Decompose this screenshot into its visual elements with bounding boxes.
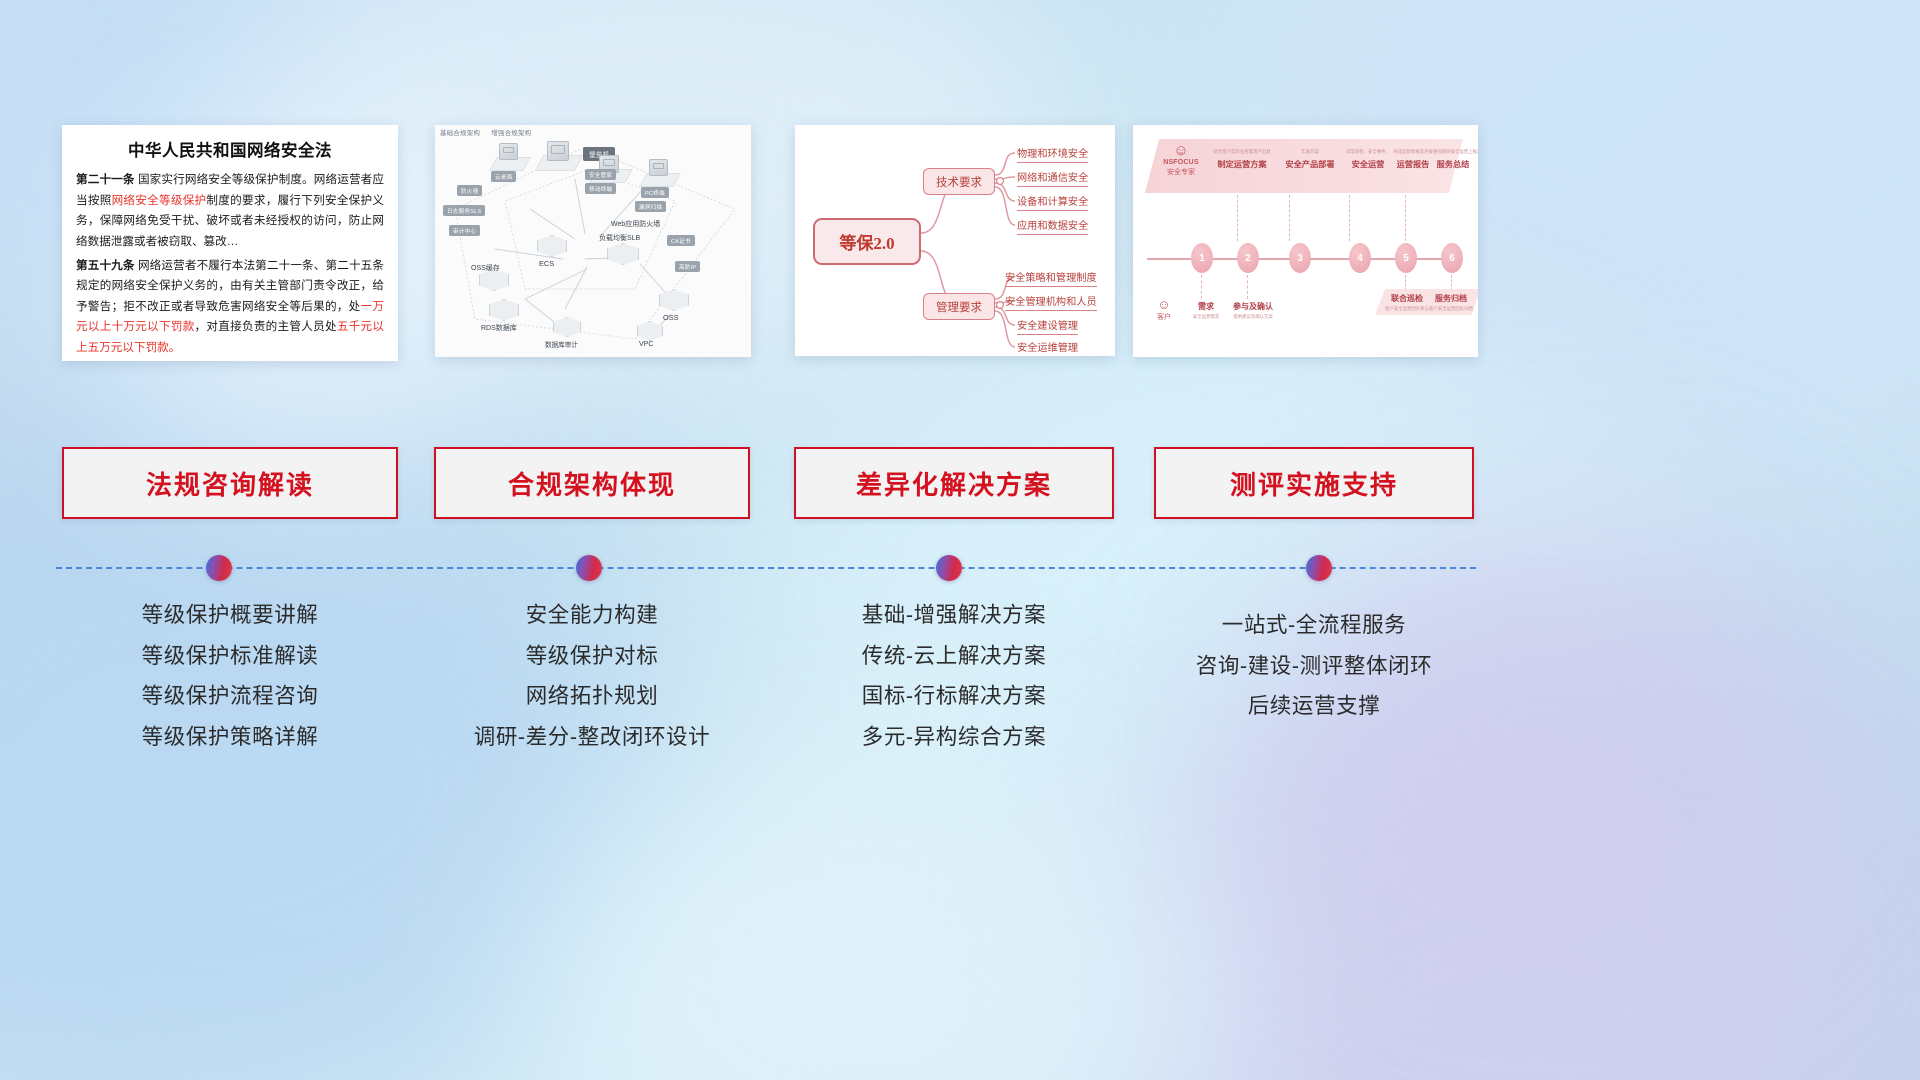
list-item: 国标-行标解决方案 (794, 686, 1114, 708)
law-article-label: 第五十九条 (76, 259, 135, 272)
node-label: RDS数据库 (481, 323, 517, 333)
list-item: 等级保护策略详解 (62, 727, 398, 749)
timeline-dot-1 (206, 555, 232, 581)
section-title-row: 法规咨询解读 合规架构体现 差异化解决方案 测评实施支持 (0, 447, 1920, 519)
node-tag: 云桌面 (491, 171, 516, 182)
section-title-box-3[interactable]: 差异化解决方案 (794, 447, 1114, 519)
law-article-label: 第二十一条 (76, 173, 135, 186)
node-label: VPC (639, 341, 653, 348)
nsfocus-step-number: 6 (1441, 243, 1463, 273)
node-tag: 安全管家 (585, 169, 616, 180)
list-item: 等级保护标准解读 (62, 646, 398, 668)
nsfocus-step: 重保期间安全运营上报及沟通机制 服务总结 (1433, 149, 1473, 170)
nsfocus-lower-title: 需求 (1183, 301, 1229, 312)
nsfocus-connector (1289, 195, 1290, 241)
nsfocus-step-sub: 形成运营周报及月报 (1391, 149, 1435, 155)
node-tag: 漏洞扫描 (635, 201, 666, 212)
nsfocus-connector (1247, 275, 1248, 299)
cloud-architecture-card: 基础合规架构 增强合规架构 (435, 125, 751, 357)
node-label: OSS (663, 313, 679, 322)
mindmap-leaf: 设备和计算安全 (1017, 193, 1088, 211)
list-item: 等级保护概要讲解 (62, 605, 398, 627)
nsfocus-lower-title: 服务归档 (1425, 293, 1477, 304)
node-label: ECS (539, 259, 554, 268)
mindmap: 等保2.0 技术要求 管理要求 物理和环境安全 网络和通信安全 设备和计算安全 … (795, 125, 1115, 356)
section-title-label: 法规咨询解读 (146, 465, 314, 502)
image-card-row: 中华人民共和国网络安全法 第二十一条 国家实行网络安全等级保护制度。网络运营者应… (0, 125, 1920, 361)
nsfocus-step-title: 运营报告 (1391, 158, 1435, 170)
list-item: 后续运营支撑 (1154, 696, 1474, 718)
nsfocus-connector (1405, 195, 1406, 241)
node-tag: PC终端 (641, 187, 669, 198)
section-title-label: 合规架构体现 (508, 465, 676, 502)
nsfocus-lower-sub: 提供建议及确认方案 (1225, 314, 1281, 320)
node-tag: 防火墙 (457, 185, 482, 196)
mindmap-leaf: 应用和数据安全 (1017, 217, 1088, 235)
nsfocus-diagram: ☺ NSFOCUS 安全专家 结合客户实际业务需求产出具 制定运营方案 实施方案… (1133, 125, 1478, 357)
person-icon: ☺ (1159, 143, 1203, 158)
mindmap-branch-management: 管理要求 (923, 293, 995, 320)
slide-stage: 中华人民共和国网络安全法 第二十一条 国家实行网络安全等级保护制度。网络运营者应… (0, 0, 1920, 1080)
law-body: 中华人民共和国网络安全法 第二十一条 国家实行网络安全等级保护制度。网络运营者应… (62, 125, 398, 361)
list-item: 多元-异构综合方案 (794, 727, 1114, 749)
list-item: 等级保护对标 (434, 646, 750, 668)
section-title-box-1[interactable]: 法规咨询解读 (62, 447, 398, 519)
mindmap-branch-technical: 技术要求 (923, 168, 995, 195)
timeline-dashed-line (56, 567, 1476, 569)
nsfocus-lower-sub: 安全运营需求 (1183, 314, 1229, 320)
section-title-label: 差异化解决方案 (856, 465, 1052, 502)
node-label: Web应用防火墙 (611, 219, 660, 229)
list-item: 咨询-建设-测评整体闭环 (1154, 656, 1474, 678)
list-item: 基础-增强解决方案 (794, 605, 1114, 627)
timeline-dot-3 (936, 555, 962, 581)
section-detail-column-1: 等级保护概要讲解 等级保护标准解读 等级保护流程咨询 等级保护策略详解 (62, 605, 398, 767)
nsfocus-step: 形成运营周报及月报 运营报告 (1391, 149, 1435, 170)
list-item: 等级保护流程咨询 (62, 686, 398, 708)
section-title-label: 测评实施支持 (1230, 465, 1398, 502)
nsfocus-lower-label: 服务归档 客户安全运营团队归档 (1425, 293, 1477, 312)
nsfocus-step: 结合客户实际业务需求产出具 制定运营方案 (1211, 149, 1273, 170)
node-box (547, 141, 569, 161)
timeline-dot-2 (576, 555, 602, 581)
law-title: 中华人民共和国网络安全法 (76, 137, 384, 161)
nsfocus-lower-sub: 客户安全运营团队归档 (1425, 306, 1477, 312)
mindmap-leaf: 安全建设管理 (1017, 317, 1078, 335)
section-detail-column-3: 基础-增强解决方案 传统-云上解决方案 国标-行标解决方案 多元-异构综合方案 (794, 605, 1114, 767)
nsfocus-step-sub: 实施方案 (1279, 149, 1341, 155)
section-title-box-4[interactable]: 测评实施支持 (1154, 447, 1474, 519)
node-tag: 移动终端 (585, 183, 616, 194)
dengbao-mindmap-card: 等保2.0 技术要求 管理要求 物理和环境安全 网络和通信安全 设备和计算安全 … (795, 125, 1115, 356)
node-label: 数据库审计 (545, 339, 578, 349)
section-detail-row: 等级保护概要讲解 等级保护标准解读 等级保护流程咨询 等级保护策略详解 安全能力… (0, 605, 1920, 795)
architecture-header-item: 增强合规架构 (491, 130, 531, 137)
nsfocus-connector (1405, 275, 1406, 291)
list-item: 传统-云上解决方案 (794, 646, 1114, 668)
nsfocus-step-sub: 重保期间安全运营上报及沟通机制 (1433, 149, 1473, 155)
node-tag: 日志服务SLS (443, 205, 485, 216)
timeline-dot-4 (1306, 555, 1332, 581)
nsfocus-step-number: 3 (1289, 243, 1311, 273)
cybersecurity-law-card: 中华人民共和国网络安全法 第二十一条 国家实行网络安全等级保护制度。网络运营者应… (62, 125, 398, 361)
mindmap-leaf: 安全运维管理 (1017, 339, 1078, 356)
list-item: 一站式-全流程服务 (1154, 615, 1474, 637)
node-label: 负载均衡SLB (599, 233, 640, 243)
nsfocus-client: ☺ 客户 (1157, 298, 1171, 322)
architecture-diagram: 基础合规架构 增强合规架构 (435, 125, 751, 357)
nsfocus-step: 日常巡检、安全事件、 安全运营 (1343, 149, 1393, 170)
mindmap-leaf: 物理和环境安全 (1017, 145, 1088, 163)
nsfocus-lower-title: 参与及确认 (1225, 301, 1281, 312)
node-box (649, 159, 668, 176)
section-detail-column-2: 安全能力构建 等级保护对标 网络拓扑规划 调研-差分-整改闭环设计 (434, 605, 750, 767)
nsfocus-step-title: 制定运营方案 (1211, 158, 1273, 170)
section-title-box-2[interactable]: 合规架构体现 (434, 447, 750, 519)
law-text: ，对直接负责的主管人员处 (195, 320, 337, 333)
nsfocus-step-number: 4 (1349, 243, 1371, 273)
nsfocus-lower-label: 需求 安全运营需求 (1183, 301, 1229, 320)
architecture-header: 基础合规架构 增强合规架构 (440, 128, 540, 137)
nsfocus-step-number: 1 (1191, 243, 1213, 273)
person-icon: ☺ (1157, 298, 1171, 311)
node-box (499, 143, 518, 160)
law-paragraph-59: 第五十九条 网络运营者不履行本法第二十一条、第二十五条规定的网络安全保护义务的，… (76, 256, 384, 359)
nsfocus-timeline-card: ☺ NSFOCUS 安全专家 结合客户实际业务需求产出具 制定运营方案 实施方案… (1133, 125, 1478, 357)
nsfocus-connector (1451, 275, 1452, 291)
nsfocus-lower-label: 参与及确认 提供建议及确认方案 (1225, 301, 1281, 320)
node-tag: 高防IP (675, 261, 700, 272)
nsfocus-step-title: 安全运营 (1343, 158, 1393, 170)
mindmap-leaf: 安全策略和管理制度 (1005, 269, 1097, 287)
nsfocus-step-number: 2 (1237, 243, 1259, 273)
nsfocus-step-sub: 结合客户实际业务需求产出具 (1211, 149, 1273, 155)
nsfocus-step-title: 安全产品部署 (1279, 158, 1341, 170)
architecture-header-item: 基础合规架构 (440, 130, 480, 137)
list-item: 安全能力构建 (434, 605, 750, 627)
node-tag: 审计中心 (449, 225, 480, 236)
mindmap-leaf: 网络和通信安全 (1017, 169, 1088, 187)
nsfocus-connector (1201, 275, 1202, 299)
nsfocus-step-number: 5 (1395, 243, 1417, 273)
nsfocus-logo-line2: 安全专家 (1159, 167, 1203, 177)
list-item: 调研-差分-整改闭环设计 (434, 727, 750, 749)
mindmap-core: 等保2.0 (813, 218, 921, 265)
node-label: OSS缓存 (471, 263, 500, 273)
mindmap-leaf: 安全管理机构和人员 (1005, 293, 1097, 311)
law-text-highlight: 网络安全等级保护 (112, 194, 207, 207)
nsfocus-step-sub: 日常巡检、安全事件、 (1343, 149, 1393, 155)
nsfocus-logo: ☺ NSFOCUS 安全专家 (1159, 143, 1203, 177)
law-paragraph-21: 第二十一条 国家实行网络安全等级保护制度。网络运营者应当按照网络安全等级保护制度… (76, 170, 384, 253)
nsfocus-step-title: 服务总结 (1433, 158, 1473, 170)
section-detail-column-4: 一站式-全流程服务 咨询-建设-测评整体闭环 后续运营支撑 (1154, 615, 1474, 737)
nsfocus-connector (1237, 195, 1238, 241)
nsfocus-step: 实施方案 安全产品部署 (1279, 149, 1341, 170)
nsfocus-logo-line1: NSFOCUS (1159, 159, 1203, 166)
node-tag: CA证书 (667, 235, 695, 246)
architecture-canvas: 堡垒机 移动终端 PC终端 防火墙 日志服务SLS 审计中心 安全管家 漏洞扫描… (435, 139, 751, 357)
nsfocus-client-line1: 客户 (1157, 312, 1171, 322)
list-item: 网络拓扑规划 (434, 686, 750, 708)
nsfocus-connector (1349, 195, 1350, 241)
